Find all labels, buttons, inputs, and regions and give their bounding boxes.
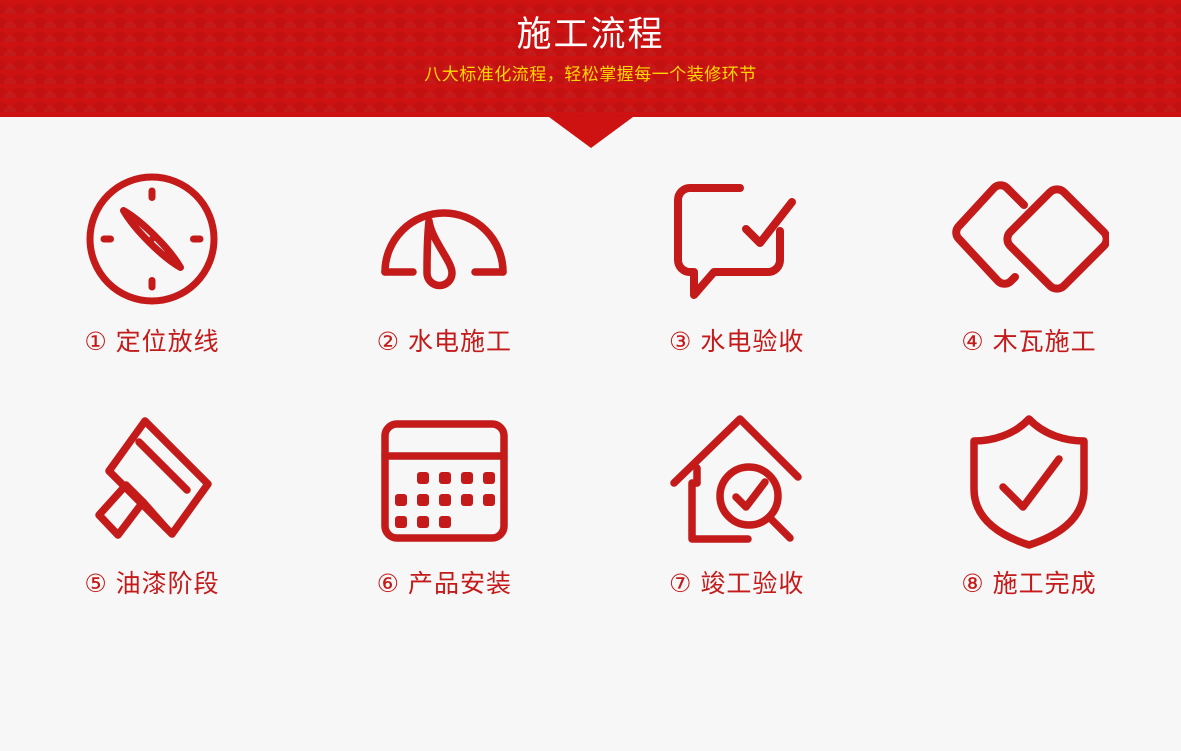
banner-arrow-notch	[549, 117, 633, 148]
process-steps-grid: ① 定位放线 ② 水电施工 ③ 水电验收	[0, 117, 1181, 601]
step-label-2: ② 水电施工	[377, 325, 512, 359]
step-item-1[interactable]: ① 定位放线	[25, 159, 280, 359]
compass-icon	[82, 159, 222, 319]
house-inspect-icon	[664, 401, 809, 561]
shield-check-icon	[964, 401, 1094, 561]
tiles-icon	[949, 159, 1109, 319]
process-steps-row-1: ① 定位放线 ② 水电施工 ③ 水电验收	[25, 159, 1157, 359]
step-label-5: ⑤ 油漆阶段	[84, 567, 219, 601]
page-header-banner: 施工流程 八大标准化流程，轻松掌握每一个装修环节	[0, 0, 1181, 117]
paint-roller-icon	[82, 401, 222, 561]
step-item-6[interactable]: ⑥ 产品安装	[317, 401, 572, 601]
step-item-7[interactable]: ⑦ 竣工验收	[609, 401, 864, 601]
step-label-6: ⑥ 产品安装	[377, 567, 512, 601]
process-steps-row-2: ⑤ 油漆阶段	[25, 401, 1157, 601]
step-item-5[interactable]: ⑤ 油漆阶段	[25, 401, 280, 601]
page-title: 施工流程	[0, 14, 1181, 56]
step-item-3[interactable]: ③ 水电验收	[609, 159, 864, 359]
speech-bubble-check-icon	[664, 159, 809, 319]
step-item-4[interactable]: ④ 木瓦施工	[901, 159, 1156, 359]
page-subtitle: 八大标准化流程，轻松掌握每一个装修环节	[0, 62, 1181, 88]
step-item-8[interactable]: ⑧ 施工完成	[901, 401, 1156, 601]
step-label-8: ⑧ 施工完成	[961, 567, 1096, 601]
gauge-icon	[369, 159, 519, 319]
banner-text-group: 施工流程 八大标准化流程，轻松掌握每一个装修环节	[0, 0, 1181, 88]
step-label-7: ⑦ 竣工验收	[669, 567, 804, 601]
step-label-4: ④ 木瓦施工	[961, 325, 1096, 359]
step-item-2[interactable]: ② 水电施工	[317, 159, 572, 359]
calendar-icon	[377, 401, 512, 561]
step-label-3: ③ 水电验收	[669, 325, 804, 359]
step-label-1: ① 定位放线	[84, 325, 219, 359]
